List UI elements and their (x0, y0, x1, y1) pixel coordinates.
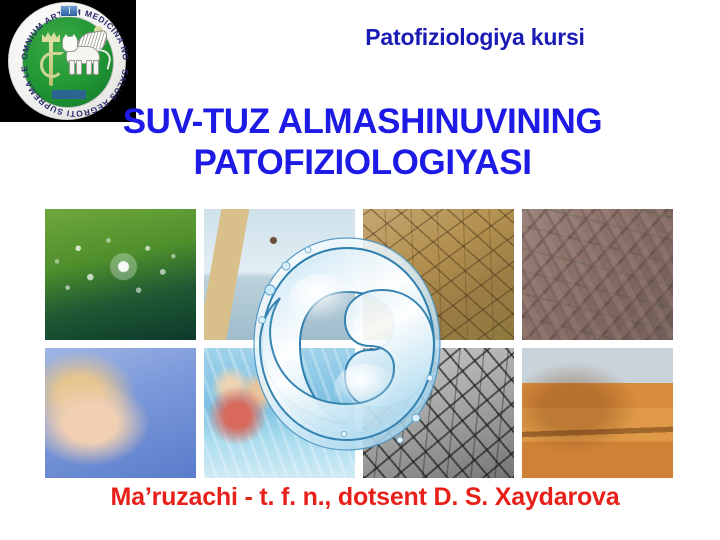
slide-title: SUV-TUZ ALMASHINUVINING PATOFIZIOLOGIYAS… (30, 102, 695, 183)
photo-water-jump (204, 209, 355, 340)
presentation-slide: OMNIUM ARTIUM MEDICINA NOBILISSIMA SALUS… (0, 0, 720, 540)
photo-collage (45, 209, 673, 478)
slide-title-line-1: SUV-TUZ ALMASHINUVINING (30, 102, 695, 143)
photo-dry-earth-grey (363, 348, 514, 479)
photo-pool-people (204, 348, 355, 479)
photo-woman-drinking (45, 348, 196, 479)
winged-lion-icon (62, 32, 110, 76)
photo-dry-earth-brown (363, 209, 514, 340)
slide-title-line-2: PATOFIZIOLOGIYASI (30, 143, 695, 184)
scroll-banner (52, 90, 86, 99)
presenter-name: Ma’ruzachi - t. f. n., dotsent D. S. Xay… (20, 483, 710, 512)
photo-dew-leaf (45, 209, 196, 340)
book-icon (60, 5, 78, 17)
course-label: Patofiziologiya kursi (250, 24, 700, 51)
photo-sand-dunes (522, 348, 673, 479)
caduceus-icon (40, 30, 62, 88)
photo-dry-leaves (522, 209, 673, 340)
